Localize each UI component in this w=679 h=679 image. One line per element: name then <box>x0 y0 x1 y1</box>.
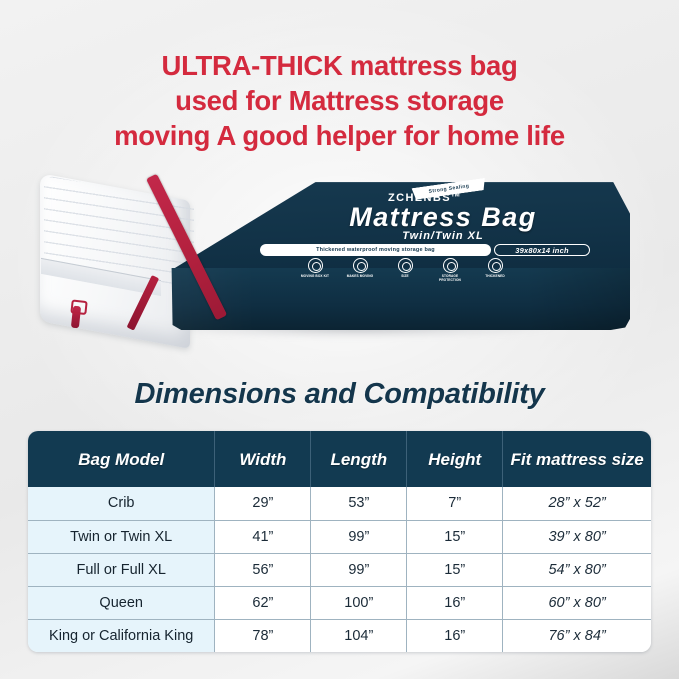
headline: ULTRA-THICK mattress bag used for Mattre… <box>0 48 679 153</box>
cell-fit: 60” x 80” <box>503 586 651 619</box>
cell-model: Full or Full XL <box>28 553 215 586</box>
column-header-length: Length <box>311 431 407 487</box>
cell-height: 16” <box>407 586 503 619</box>
section-title: Dimensions and Compatibility <box>0 378 679 411</box>
cell-length: 53” <box>311 487 407 520</box>
feature-circle-icon <box>308 258 323 273</box>
table-header-row: Bag Model Width Length Height Fit mattre… <box>28 431 651 487</box>
product-title: Mattress Bag <box>278 202 608 233</box>
cell-height: 7” <box>407 487 503 520</box>
feature-circle-icon <box>353 258 368 273</box>
dimensions-table: Bag Model Width Length Height Fit mattre… <box>28 431 651 652</box>
cell-length: 99” <box>311 520 407 553</box>
headline-line-1: ULTRA-THICK mattress bag <box>0 48 679 83</box>
feature-item: SIZE <box>390 258 420 282</box>
table-row: Full or Full XL 56” 99” 15” 54” x 80” <box>28 553 651 586</box>
trademark-mark: TM <box>451 192 460 198</box>
cell-fit: 54” x 80” <box>503 553 651 586</box>
feature-caption: MAKES MOVING <box>345 274 375 278</box>
feature-caption: MOVING BOX KIT <box>300 274 330 278</box>
column-header-width: Width <box>215 431 311 487</box>
column-header-bag-model: Bag Model <box>28 431 215 487</box>
headline-line-2: used for Mattress storage <box>0 83 679 118</box>
size-pill: 39x80x14 inch <box>494 244 590 256</box>
cell-width: 41” <box>215 520 311 553</box>
product-subtitle: Twin/Twin XL <box>278 230 608 242</box>
cell-model: Twin or Twin XL <box>28 520 215 553</box>
feature-item: MOVING BOX KIT <box>300 258 330 282</box>
table-row: Twin or Twin XL 41” 99” 15” 39” x 80” <box>28 520 651 553</box>
feature-icon-row: MOVING BOX KIT MAKES MOVING SIZE STORAGE… <box>300 258 510 282</box>
cell-fit: 76” x 84” <box>503 619 651 652</box>
feature-caption: SIZE <box>390 274 420 278</box>
bag-printed-label: Strong Sealing ZCHENBSTM Mattress Bag Tw… <box>150 182 630 270</box>
feature-item: THICKENED <box>480 258 510 282</box>
feature-circle-icon <box>488 258 503 273</box>
cell-width: 29” <box>215 487 311 520</box>
table-row: King or California King 78” 104” 16” 76”… <box>28 619 651 652</box>
cell-width: 56” <box>215 553 311 586</box>
cell-width: 78” <box>215 619 311 652</box>
cell-fit: 28” x 52” <box>503 487 651 520</box>
cell-fit: 39” x 80” <box>503 520 651 553</box>
cell-model: Queen <box>28 586 215 619</box>
cell-model: Crib <box>28 487 215 520</box>
product-image: Strong Sealing ZCHENBSTM Mattress Bag Tw… <box>0 165 679 370</box>
label-pill-row: Thickened waterproof moving storage bag … <box>260 244 590 256</box>
feature-caption: THICKENED <box>480 274 510 278</box>
cell-length: 100” <box>311 586 407 619</box>
column-header-fit-size: Fit mattress size <box>503 431 651 487</box>
cell-height: 15” <box>407 520 503 553</box>
feature-circle-icon <box>398 258 413 273</box>
cell-length: 104” <box>311 619 407 652</box>
feature-caption: STORAGE PROTECTION <box>435 274 465 282</box>
cell-height: 16” <box>407 619 503 652</box>
feature-circle-icon <box>443 258 458 273</box>
table-row: Crib 29” 53” 7” 28” x 52” <box>28 487 651 520</box>
cell-length: 99” <box>311 553 407 586</box>
cell-model: King or California King <box>28 619 215 652</box>
table-row: Queen 62” 100” 16” 60” x 80” <box>28 586 651 619</box>
cell-height: 15” <box>407 553 503 586</box>
column-header-height: Height <box>407 431 503 487</box>
cell-width: 62” <box>215 586 311 619</box>
feature-pill: Thickened waterproof moving storage bag <box>260 244 491 256</box>
feature-item: STORAGE PROTECTION <box>435 258 465 282</box>
headline-line-3: moving A good helper for home life <box>0 118 679 153</box>
feature-item: MAKES MOVING <box>345 258 375 282</box>
